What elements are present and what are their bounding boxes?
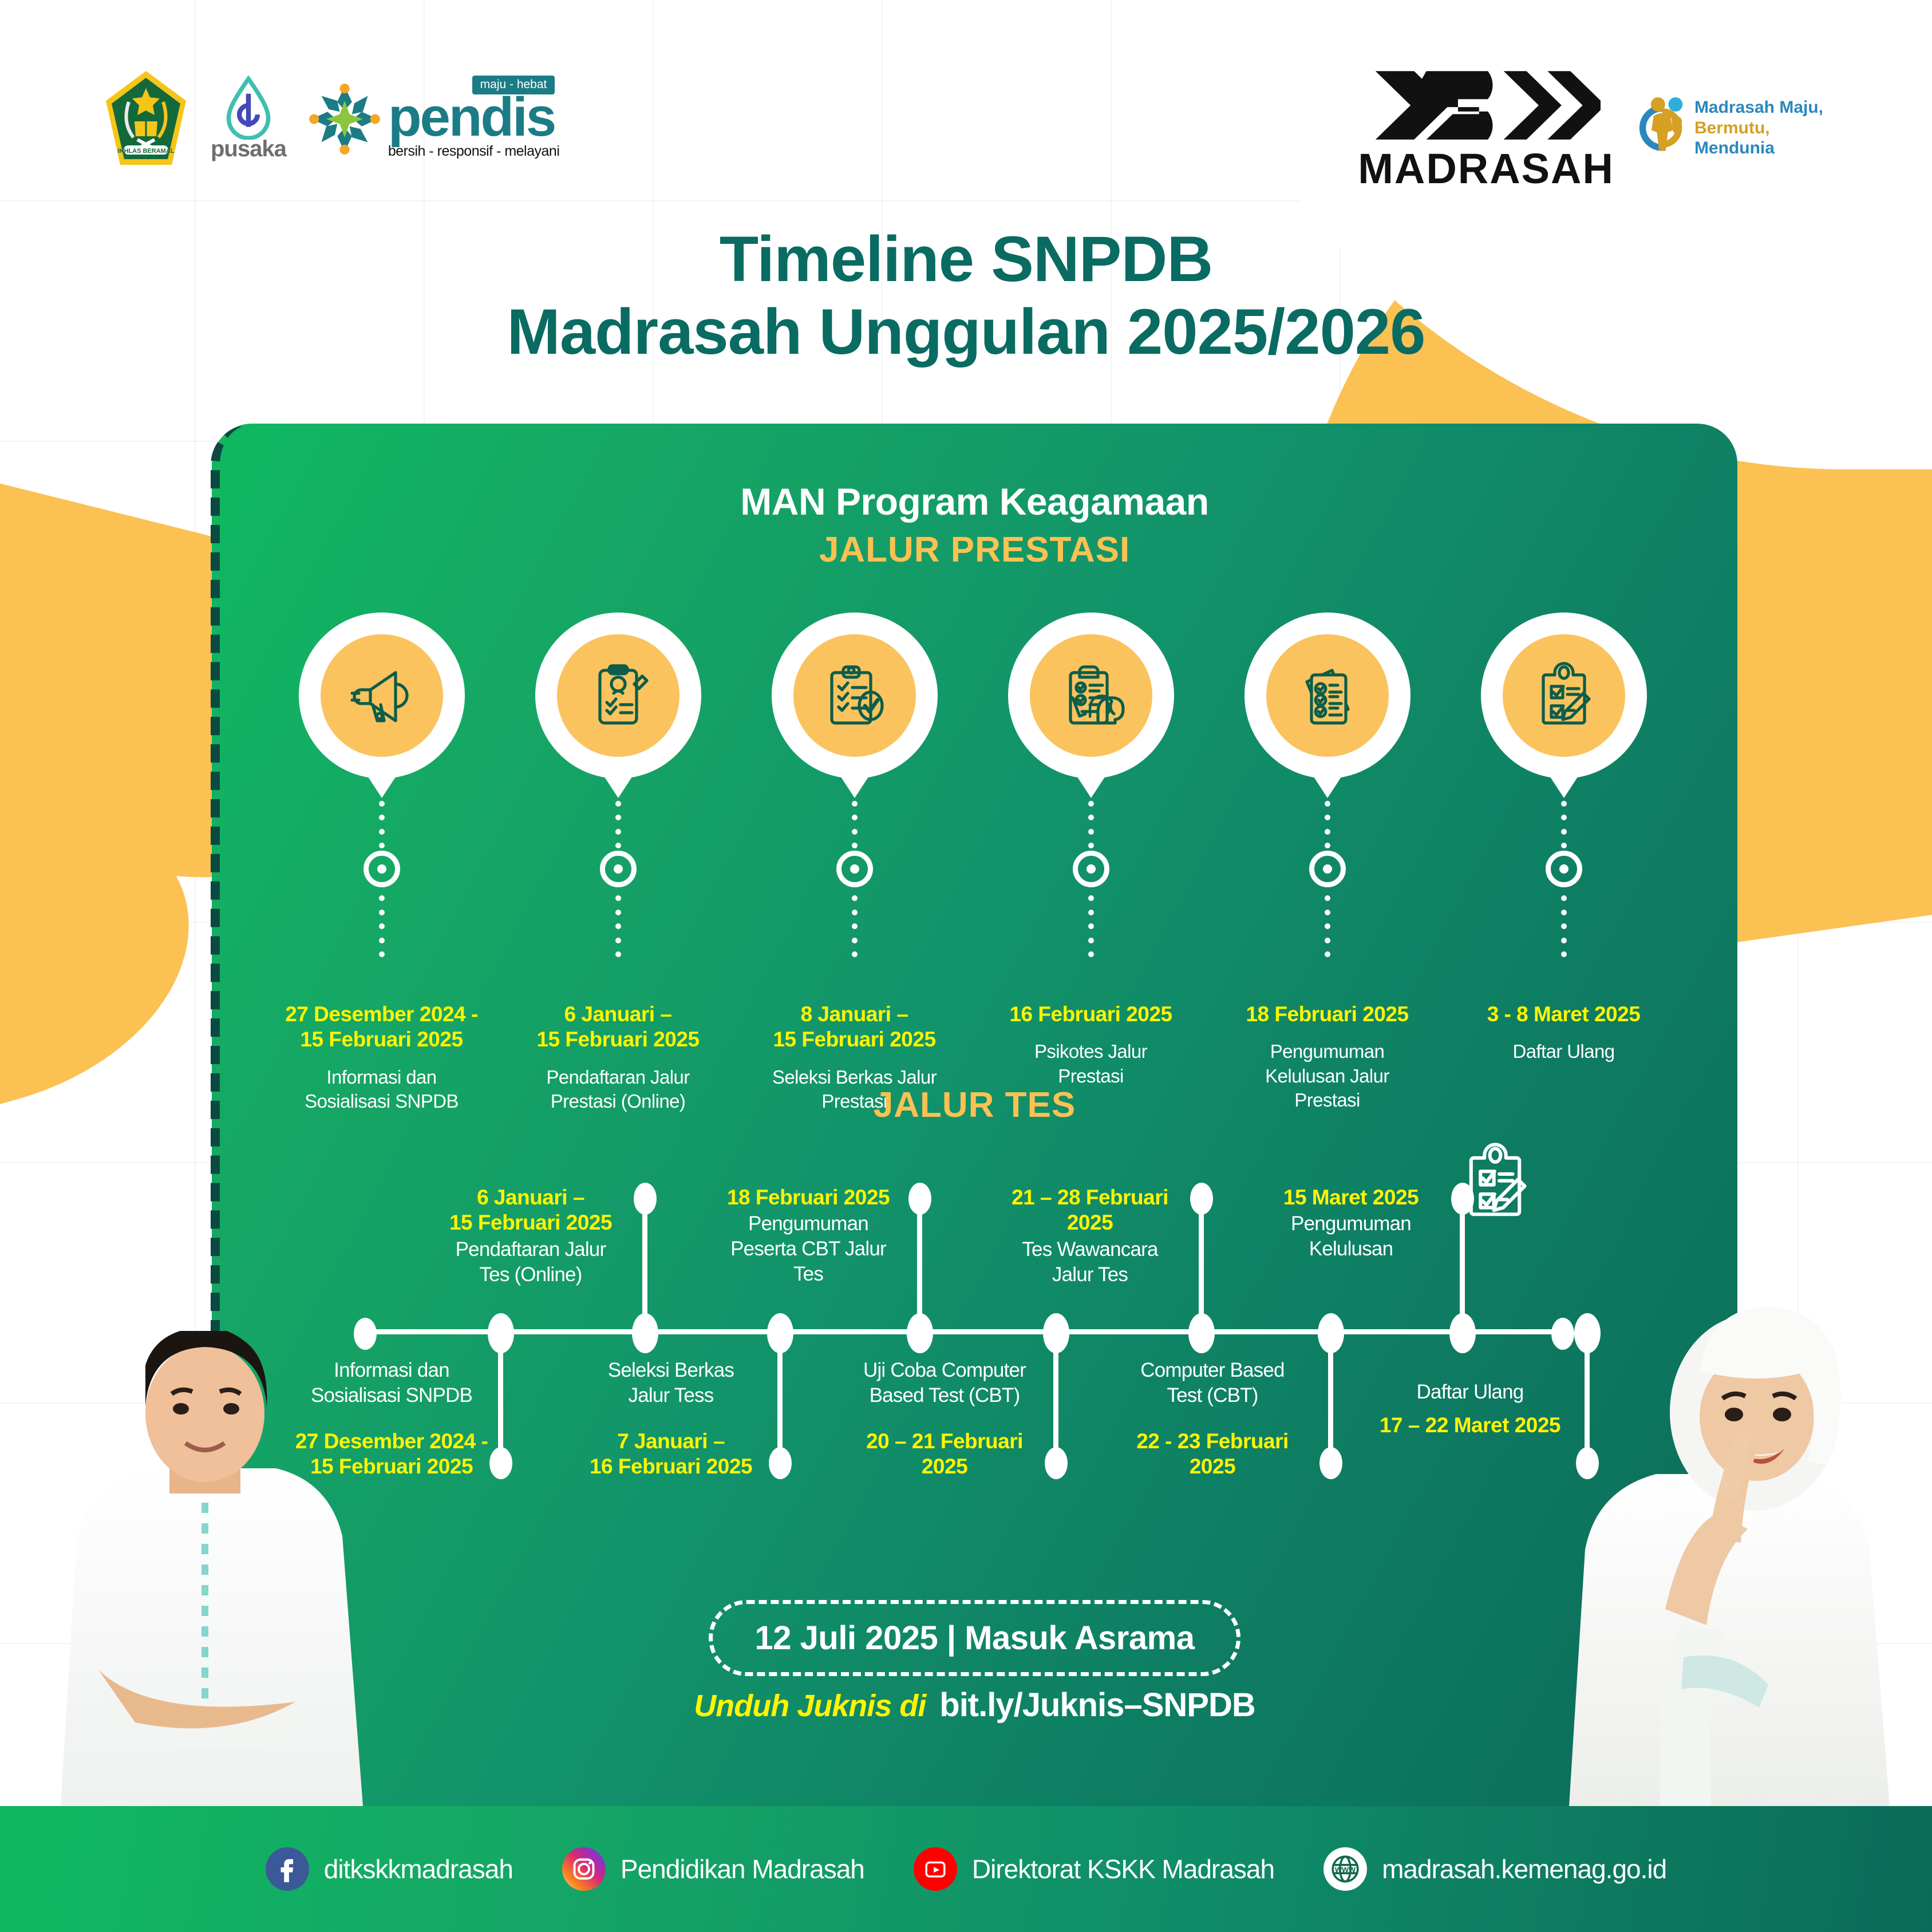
- timeline-node[interactable]: [632, 1313, 658, 1353]
- connector-dots: [1088, 895, 1094, 957]
- timeline-node: [836, 851, 873, 887]
- instagram-icon: [562, 1847, 606, 1891]
- madrasah-maju-bermutu-mendunia-logo: Madrasah Maju, Bermutu, Mendunia: [1637, 95, 1823, 161]
- juknis-url[interactable]: bit.ly/Juknis–SNPDB: [939, 1686, 1255, 1724]
- connector-dots: [1325, 895, 1330, 957]
- step-date: 3 - 8 Maret 2025: [1487, 1002, 1641, 1027]
- pusaka-label: pusaka: [211, 136, 286, 162]
- stem-up-2: [917, 1195, 922, 1332]
- social-label: Pendidikan Madrasah: [621, 1854, 864, 1884]
- pin-marker: [1481, 613, 1647, 779]
- mmb-line-1: Madrasah Maju,: [1694, 97, 1823, 117]
- kemenag-shield-logo: IKHLAS BERAMAL: [103, 69, 189, 169]
- card-heading: MAN Program Keagamaan: [212, 480, 1737, 523]
- prestasi-step-6[interactable]: 3 - 8 Maret 2025 Daftar Ulang: [1445, 613, 1682, 1113]
- pendis-badge: maju - hebat: [472, 76, 555, 94]
- step-date: 18 Februari 2025: [700, 1185, 917, 1210]
- timeline-node[interactable]: [1188, 1313, 1215, 1353]
- step-date: 6 Januari –15 Februari 2025: [536, 1002, 699, 1053]
- jalur-prestasi-timeline: 27 Desember 2024 -15 Februari 2025 Infor…: [263, 613, 1683, 1113]
- madrasah-wordmark: MADRASAH: [1358, 148, 1614, 190]
- website-www-icon: www: [1323, 1847, 1367, 1891]
- timeline-node: [364, 851, 400, 887]
- timeline-node: [1546, 851, 1582, 887]
- card-subheading-jalur-prestasi: JALUR PRESTASI: [212, 530, 1737, 570]
- step-date: 16 Februari 2025: [1009, 1002, 1172, 1027]
- clipboard-pencil-icon: [1452, 1136, 1538, 1228]
- timeline-card: MAN Program Keagamaan JALUR PRESTASI 27: [212, 424, 1737, 1806]
- prestasi-step-3[interactable]: 8 Januari –15 Februari 2025 Seleksi Berk…: [736, 613, 973, 1113]
- clipboard-pencil-icon: [1503, 634, 1625, 757]
- footer-bar: ditkskkmadrasah Pendidikan Madrasah Dire…: [0, 1806, 1932, 1932]
- timeline-node[interactable]: [767, 1313, 793, 1353]
- step-label: Daftar Ulang: [1469, 1040, 1658, 1064]
- youtube-icon: [914, 1847, 957, 1891]
- step-label: Psikotes JalurPrestasi: [997, 1040, 1186, 1088]
- prestasi-step-2[interactable]: 6 Januari –15 Februari 2025 Pendaftaran …: [500, 613, 736, 1113]
- student-photo-left: [34, 1331, 389, 1806]
- step-date: 21 – 28 Februari2025: [981, 1185, 1199, 1236]
- prestasi-step-4[interactable]: 16 Februari 2025 Psikotes JalurPrestasi: [973, 613, 1209, 1113]
- page-title-line-1: Timeline SNPDB: [0, 223, 1932, 296]
- step-label: Computer BasedTest (CBT): [1104, 1358, 1321, 1408]
- social-facebook[interactable]: ditkskkmadrasah: [266, 1847, 513, 1891]
- step-label: Uji Coba ComputerBased Test (CBT): [836, 1358, 1053, 1408]
- prestasi-step-5[interactable]: 18 Februari 2025 PengumumanKelulusan Jal…: [1209, 613, 1445, 1113]
- social-instagram[interactable]: Pendidikan Madrasah: [562, 1847, 864, 1891]
- pin-marker: [1244, 613, 1411, 779]
- timeline-node[interactable]: [1449, 1313, 1476, 1353]
- tes-below-3: Uji Coba ComputerBased Test (CBT) 20 – 2…: [836, 1357, 1053, 1479]
- step-label: PengumumanKelulusan: [1242, 1211, 1460, 1262]
- pendis-wordmark: pendis: [388, 95, 560, 140]
- social-label: Direktorat KSKK Madrasah: [972, 1854, 1274, 1884]
- facebook-icon: [266, 1847, 309, 1891]
- megaphone-icon: [321, 634, 443, 757]
- connector-dots: [379, 895, 385, 957]
- svg-text:www: www: [1334, 1864, 1356, 1874]
- pin-marker: [535, 613, 701, 779]
- step-date: 8 Januari –15 Februari 2025: [773, 1002, 935, 1053]
- timeline-node[interactable]: [488, 1313, 514, 1353]
- stem-cap-down-4: [1319, 1447, 1342, 1479]
- step-date: 7 Januari –16 Februari 2025: [564, 1429, 777, 1480]
- pin-marker: [772, 613, 938, 779]
- pin-marker: [1008, 613, 1174, 779]
- tes-above-4: 15 Maret 2025 PengumumanKelulusan: [1242, 1185, 1460, 1262]
- timeline-node: [1073, 851, 1109, 887]
- stem-up-1: [642, 1195, 647, 1332]
- prestasi-step-1[interactable]: 27 Desember 2024 -15 Februari 2025 Infor…: [263, 613, 500, 1113]
- juknis-label: Unduh Juknis di: [694, 1688, 926, 1724]
- madrasah-logo: MADRASAH: [1358, 66, 1614, 190]
- stem-up-3: [1199, 1195, 1204, 1332]
- masuk-asrama-badge: 12 Juli 2025 | Masuk Asrama: [709, 1600, 1241, 1676]
- timeline-node[interactable]: [1318, 1313, 1344, 1353]
- juknis-row: Unduh Juknis di bit.ly/Juknis–SNPDB: [694, 1686, 1255, 1724]
- social-label: madrasah.kemenag.go.id: [1382, 1854, 1666, 1884]
- step-label: PengumumanPeserta CBT JalurTes: [700, 1211, 917, 1286]
- step-date: 27 Desember 2024 -15 Februari 2025: [285, 1002, 478, 1053]
- tes-above-3: 21 – 28 Februari2025 Tes WawancaraJalur …: [981, 1185, 1199, 1287]
- timeline-node: [1309, 851, 1346, 887]
- student-photo-right: [1537, 1302, 1915, 1806]
- clipboard-person-pencil-icon: [557, 634, 679, 757]
- card-subheading-jalur-tes: JALUR TES: [212, 1085, 1737, 1125]
- connector-dots: [852, 895, 858, 957]
- pendis-tagline: bersih - responsif - melayani: [388, 143, 560, 160]
- connector-dots: [615, 895, 621, 957]
- documents-checklist-icon: [1266, 634, 1389, 757]
- step-date: 18 Februari 2025: [1246, 1002, 1408, 1027]
- social-youtube[interactable]: Direktorat KSKK Madrasah: [914, 1847, 1274, 1891]
- clipboard-brain-icon: [1030, 634, 1152, 757]
- step-label: Tes WawancaraJalur Tes: [981, 1237, 1199, 1287]
- stem-cap-up-1: [634, 1183, 657, 1215]
- timeline-rail: [364, 1329, 1563, 1334]
- pendis-flower-icon: [308, 82, 381, 156]
- social-website[interactable]: www madrasah.kemenag.go.id: [1323, 1847, 1666, 1891]
- page-title: Timeline SNPDB Madrasah Unggulan 2025/20…: [0, 223, 1932, 368]
- pin-marker: [299, 613, 465, 779]
- clipboard-check-icon: [793, 634, 916, 757]
- page-title-line-2: Madrasah Unggulan 2025/2026: [0, 296, 1932, 369]
- step-date: 22 - 23 Februari2025: [1104, 1429, 1321, 1480]
- two-people-circle-icon: [1637, 95, 1686, 161]
- timeline-node[interactable]: [907, 1313, 933, 1353]
- tes-below-2: Seleksi BerkasJalur Tess 7 Januari –16 F…: [564, 1357, 777, 1479]
- tes-above-2: 18 Februari 2025 PengumumanPeserta CBT J…: [700, 1185, 917, 1287]
- connector-dots: [1561, 895, 1567, 957]
- pendis-logo: maju - hebat pendis bersih - responsif -…: [308, 78, 560, 160]
- pusaka-logo: pusaka: [211, 76, 286, 162]
- social-label: ditkskkmadrasah: [324, 1854, 513, 1884]
- mmb-line-2: Bermutu,: [1694, 118, 1823, 138]
- step-date: 6 Januari –15 Februari 2025: [425, 1185, 637, 1236]
- timeline-node: [600, 851, 637, 887]
- logo-row-right: MADRASAH Madrasah Maju, Bermutu, Menduni…: [1358, 66, 1823, 190]
- mmb-line-3: Mendunia: [1694, 138, 1823, 158]
- kemenag-motto: IKHLAS BERAMAL: [118, 148, 175, 155]
- tes-below-4: Computer BasedTest (CBT) 22 - 23 Februar…: [1104, 1357, 1321, 1479]
- timeline-node[interactable]: [1043, 1313, 1069, 1353]
- madrasah-chevron-icon: [1372, 66, 1601, 145]
- step-label: Seleksi BerkasJalur Tess: [564, 1358, 777, 1408]
- step-date: 15 Maret 2025: [1242, 1185, 1460, 1210]
- logo-row-left: IKHLAS BERAMAL pusaka: [103, 69, 559, 169]
- step-label: Pendaftaran JalurTes (Online): [425, 1237, 637, 1287]
- step-date: 20 – 21 Februari2025: [836, 1429, 1053, 1480]
- tes-above-1: 6 Januari –15 Februari 2025 Pendaftaran …: [425, 1185, 637, 1287]
